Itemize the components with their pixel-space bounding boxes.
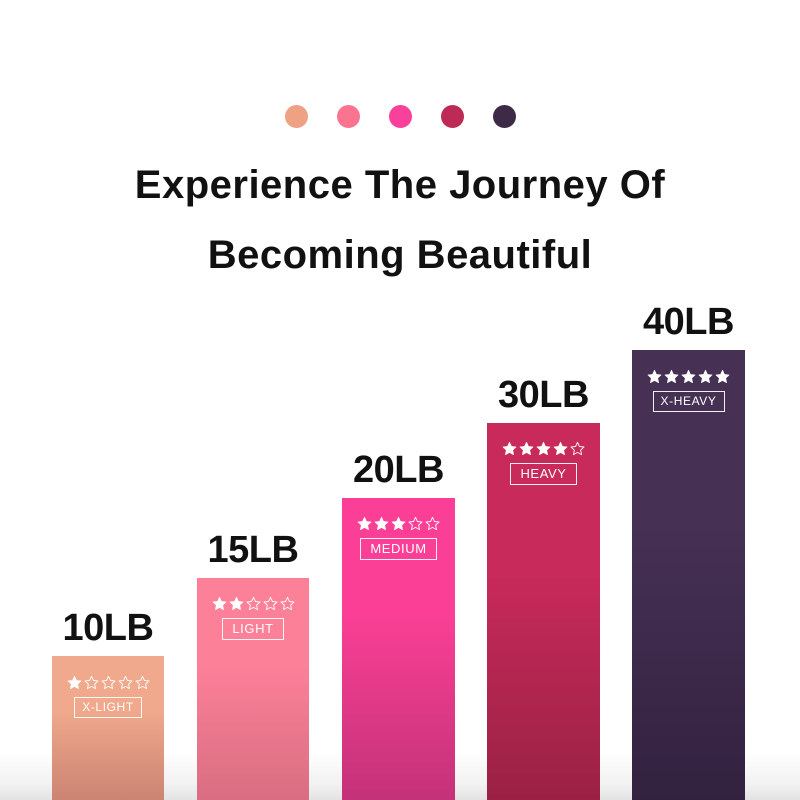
weight-label-30lb: 30LB	[487, 375, 600, 415]
bar-group-light[interactable]: 15LBLIGHT	[197, 578, 309, 800]
bar-group-heavy[interactable]: 30LBHEAVY	[487, 423, 600, 800]
bar-10lb[interactable]	[52, 656, 164, 800]
promo-banner: Experience The Journey Of Becoming Beaut…	[0, 0, 800, 800]
bar-40lb[interactable]	[632, 350, 745, 800]
resistance-bar-chart: 10LBX-LIGHT15LBLIGHT20LBMEDIUM30LBHEAVY4…	[0, 0, 800, 800]
weight-label-15lb: 15LB	[197, 530, 309, 570]
bar-group-x-heavy[interactable]: 40LBX-HEAVY	[632, 350, 745, 800]
weight-label-20lb: 20LB	[342, 450, 455, 490]
bar-group-medium[interactable]: 20LBMEDIUM	[342, 498, 455, 800]
weight-label-40lb: 40LB	[632, 302, 745, 342]
bar-30lb[interactable]	[487, 423, 600, 800]
weight-label-10lb: 10LB	[52, 608, 164, 648]
bar-15lb[interactable]	[197, 578, 309, 800]
bar-20lb[interactable]	[342, 498, 455, 800]
bar-group-x-light[interactable]: 10LBX-LIGHT	[52, 656, 164, 800]
